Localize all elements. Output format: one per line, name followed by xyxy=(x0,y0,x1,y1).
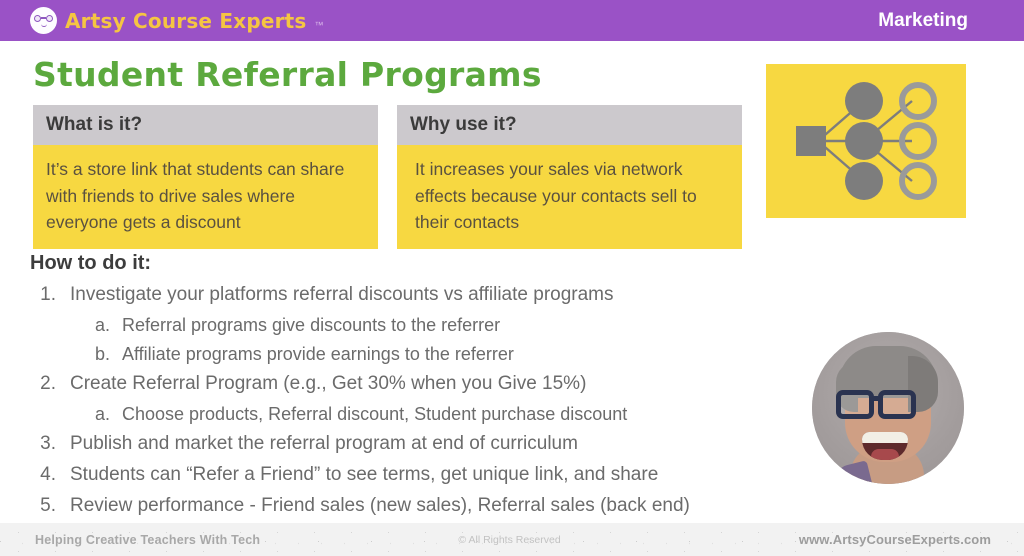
list-item: 3. Publish and market the referral progr… xyxy=(30,429,820,460)
howto-heading: How to do it: xyxy=(30,252,151,275)
presenter-headshot xyxy=(812,332,964,484)
list-text: Students can “Refer a Friend” to see ter… xyxy=(70,460,658,491)
list-text: Create Referral Program (e.g., Get 30% w… xyxy=(70,369,586,400)
page-title: Student Referral Programs xyxy=(33,55,542,94)
footer-bar: Helping Creative Teachers With Tech © Al… xyxy=(0,523,1024,556)
footer-copyright: © All Rights Reserved xyxy=(260,534,799,546)
list-marker: a. xyxy=(30,400,122,429)
info-box-what-is-it: What is it? It’s a store link that stude… xyxy=(33,105,378,249)
header-bar: Artsy Course Experts ™ Marketing xyxy=(0,0,1024,41)
list-text: Investigate your platforms referral disc… xyxy=(70,280,614,311)
referral-network-diagram xyxy=(766,64,966,218)
list-marker: a. xyxy=(30,311,122,340)
info-box-heading: Why use it? xyxy=(397,105,742,145)
list-item: 5. Review performance - Friend sales (ne… xyxy=(30,491,820,522)
trademark-symbol: ™ xyxy=(315,20,324,34)
list-item: a. Referral programs give discounts to t… xyxy=(30,311,820,340)
list-item: 4. Students can “Refer a Friend” to see … xyxy=(30,460,820,491)
list-marker: 1. xyxy=(30,280,70,311)
glasses-face-logo-icon xyxy=(30,7,57,34)
list-marker: 2. xyxy=(30,369,70,400)
brand: Artsy Course Experts ™ xyxy=(0,7,324,34)
howto-steps: 1. Investigate your platforms referral d… xyxy=(30,280,820,521)
list-marker: b. xyxy=(30,340,122,369)
list-text: Choose products, Referral discount, Stud… xyxy=(122,400,627,429)
list-text: Review performance - Friend sales (new s… xyxy=(70,491,690,522)
list-marker: 4. xyxy=(30,460,70,491)
list-text: Publish and market the referral program … xyxy=(70,429,578,460)
footer-website: www.ArtsyCourseExperts.com xyxy=(799,532,1024,547)
list-item: a. Choose products, Referral discount, S… xyxy=(30,400,820,429)
info-box-heading: What is it? xyxy=(33,105,378,145)
footer-tagline: Helping Creative Teachers With Tech xyxy=(0,533,260,547)
list-text: Affiliate programs provide earnings to t… xyxy=(122,340,514,369)
list-text: Referral programs give discounts to the … xyxy=(122,311,500,340)
list-item: b. Affiliate programs provide earnings t… xyxy=(30,340,820,369)
info-box-body: It increases your sales via network effe… xyxy=(397,145,742,249)
list-marker: 3. xyxy=(30,429,70,460)
list-item: 2. Create Referral Program (e.g., Get 30… xyxy=(30,369,820,400)
info-box-why-use-it: Why use it? It increases your sales via … xyxy=(397,105,742,249)
list-marker: 5. xyxy=(30,491,70,522)
brand-name: Artsy Course Experts xyxy=(65,9,307,33)
category-label: Marketing xyxy=(878,10,1024,32)
list-item: 1. Investigate your platforms referral d… xyxy=(30,280,820,311)
info-box-body: It’s a store link that students can shar… xyxy=(33,145,378,249)
